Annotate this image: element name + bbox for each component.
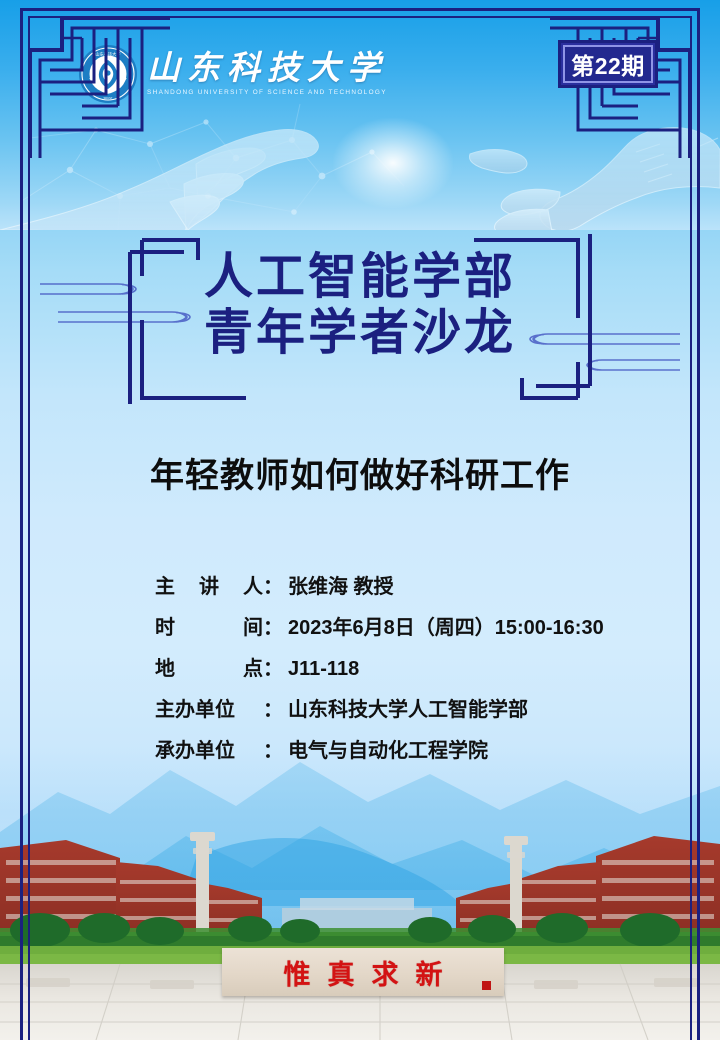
campus-motto-monument: 惟 真 求 新 bbox=[222, 948, 504, 996]
detail-value-venue: J11-118 bbox=[288, 658, 359, 681]
issue-badge: 第22期 bbox=[558, 40, 658, 88]
event-details: 主 讲 人 ： 张维海 教授 时 间 ： 2023年6月8日（周四）15:00-… bbox=[155, 570, 604, 775]
detail-row-speaker: 主 讲 人 ： 张维海 教授 bbox=[155, 570, 604, 599]
detail-colon-co-organizer: ： bbox=[263, 734, 283, 763]
motto-char-4: 新 bbox=[416, 953, 443, 992]
detail-label-co-organizer: 承办单位 bbox=[155, 734, 263, 763]
monument-seal-stamp bbox=[482, 981, 491, 990]
chinese-meander-corner-icon-left bbox=[22, 10, 172, 160]
detail-label-datetime: 时 间 bbox=[155, 611, 263, 640]
university-name-cn: 山东科技大学 bbox=[147, 52, 387, 87]
detail-colon-datetime: ： bbox=[263, 611, 283, 640]
event-poster: 山东科技大学 SDUST 山东科技大学 SHANDONG UNIVERSITY … bbox=[0, 0, 720, 1040]
issue-badge-inner: 第22期 bbox=[563, 45, 653, 83]
title-block: 人工智能学部 青年学者沙龙 bbox=[0, 228, 720, 418]
motto-char-2: 真 bbox=[328, 953, 355, 992]
detail-label-venue: 地 点 bbox=[155, 652, 263, 681]
detail-row-organizer: 主办单位 ： 山东科技大学人工智能学部 bbox=[155, 693, 604, 722]
detail-value-organizer: 山东科技大学人工智能学部 bbox=[288, 693, 528, 722]
issue-badge-label: 第22期 bbox=[571, 47, 645, 81]
detail-label-organizer: 主办单位 bbox=[155, 693, 263, 722]
motto-char-1: 惟 bbox=[284, 953, 311, 992]
detail-value-datetime: 2023年6月8日（周四）15:00-16:30 bbox=[288, 611, 604, 640]
detail-value-speaker: 张维海 教授 bbox=[288, 570, 394, 599]
title-text: 人工智能学部 青年学者沙龙 bbox=[0, 250, 720, 362]
detail-value-co-organizer: 电气与自动化工程学院 bbox=[288, 734, 488, 763]
detail-row-venue: 地 点 ： J11-118 bbox=[155, 652, 604, 681]
detail-colon-organizer: ： bbox=[263, 693, 283, 722]
motto-char-3: 求 bbox=[372, 953, 399, 992]
university-name-en: SHANDONG UNIVERSITY OF SCIENCE AND TECHN… bbox=[147, 89, 387, 96]
lecture-subtitle: 年轻教师如何做好科研工作 bbox=[0, 448, 720, 497]
monument-motto: 惟 真 求 新 bbox=[222, 948, 504, 996]
detail-colon-speaker: ： bbox=[263, 570, 283, 599]
title-line-2: 青年学者沙龙 bbox=[0, 306, 720, 362]
title-line-1: 人工智能学部 bbox=[0, 250, 720, 306]
detail-label-speaker: 主 讲 人 bbox=[155, 570, 263, 599]
touch-glow bbox=[333, 118, 453, 208]
detail-row-datetime: 时 间 ： 2023年6月8日（周四）15:00-16:30 bbox=[155, 611, 604, 640]
detail-row-co-organizer: 承办单位 ： 电气与自动化工程学院 bbox=[155, 734, 604, 763]
detail-colon-venue: ： bbox=[263, 652, 283, 681]
